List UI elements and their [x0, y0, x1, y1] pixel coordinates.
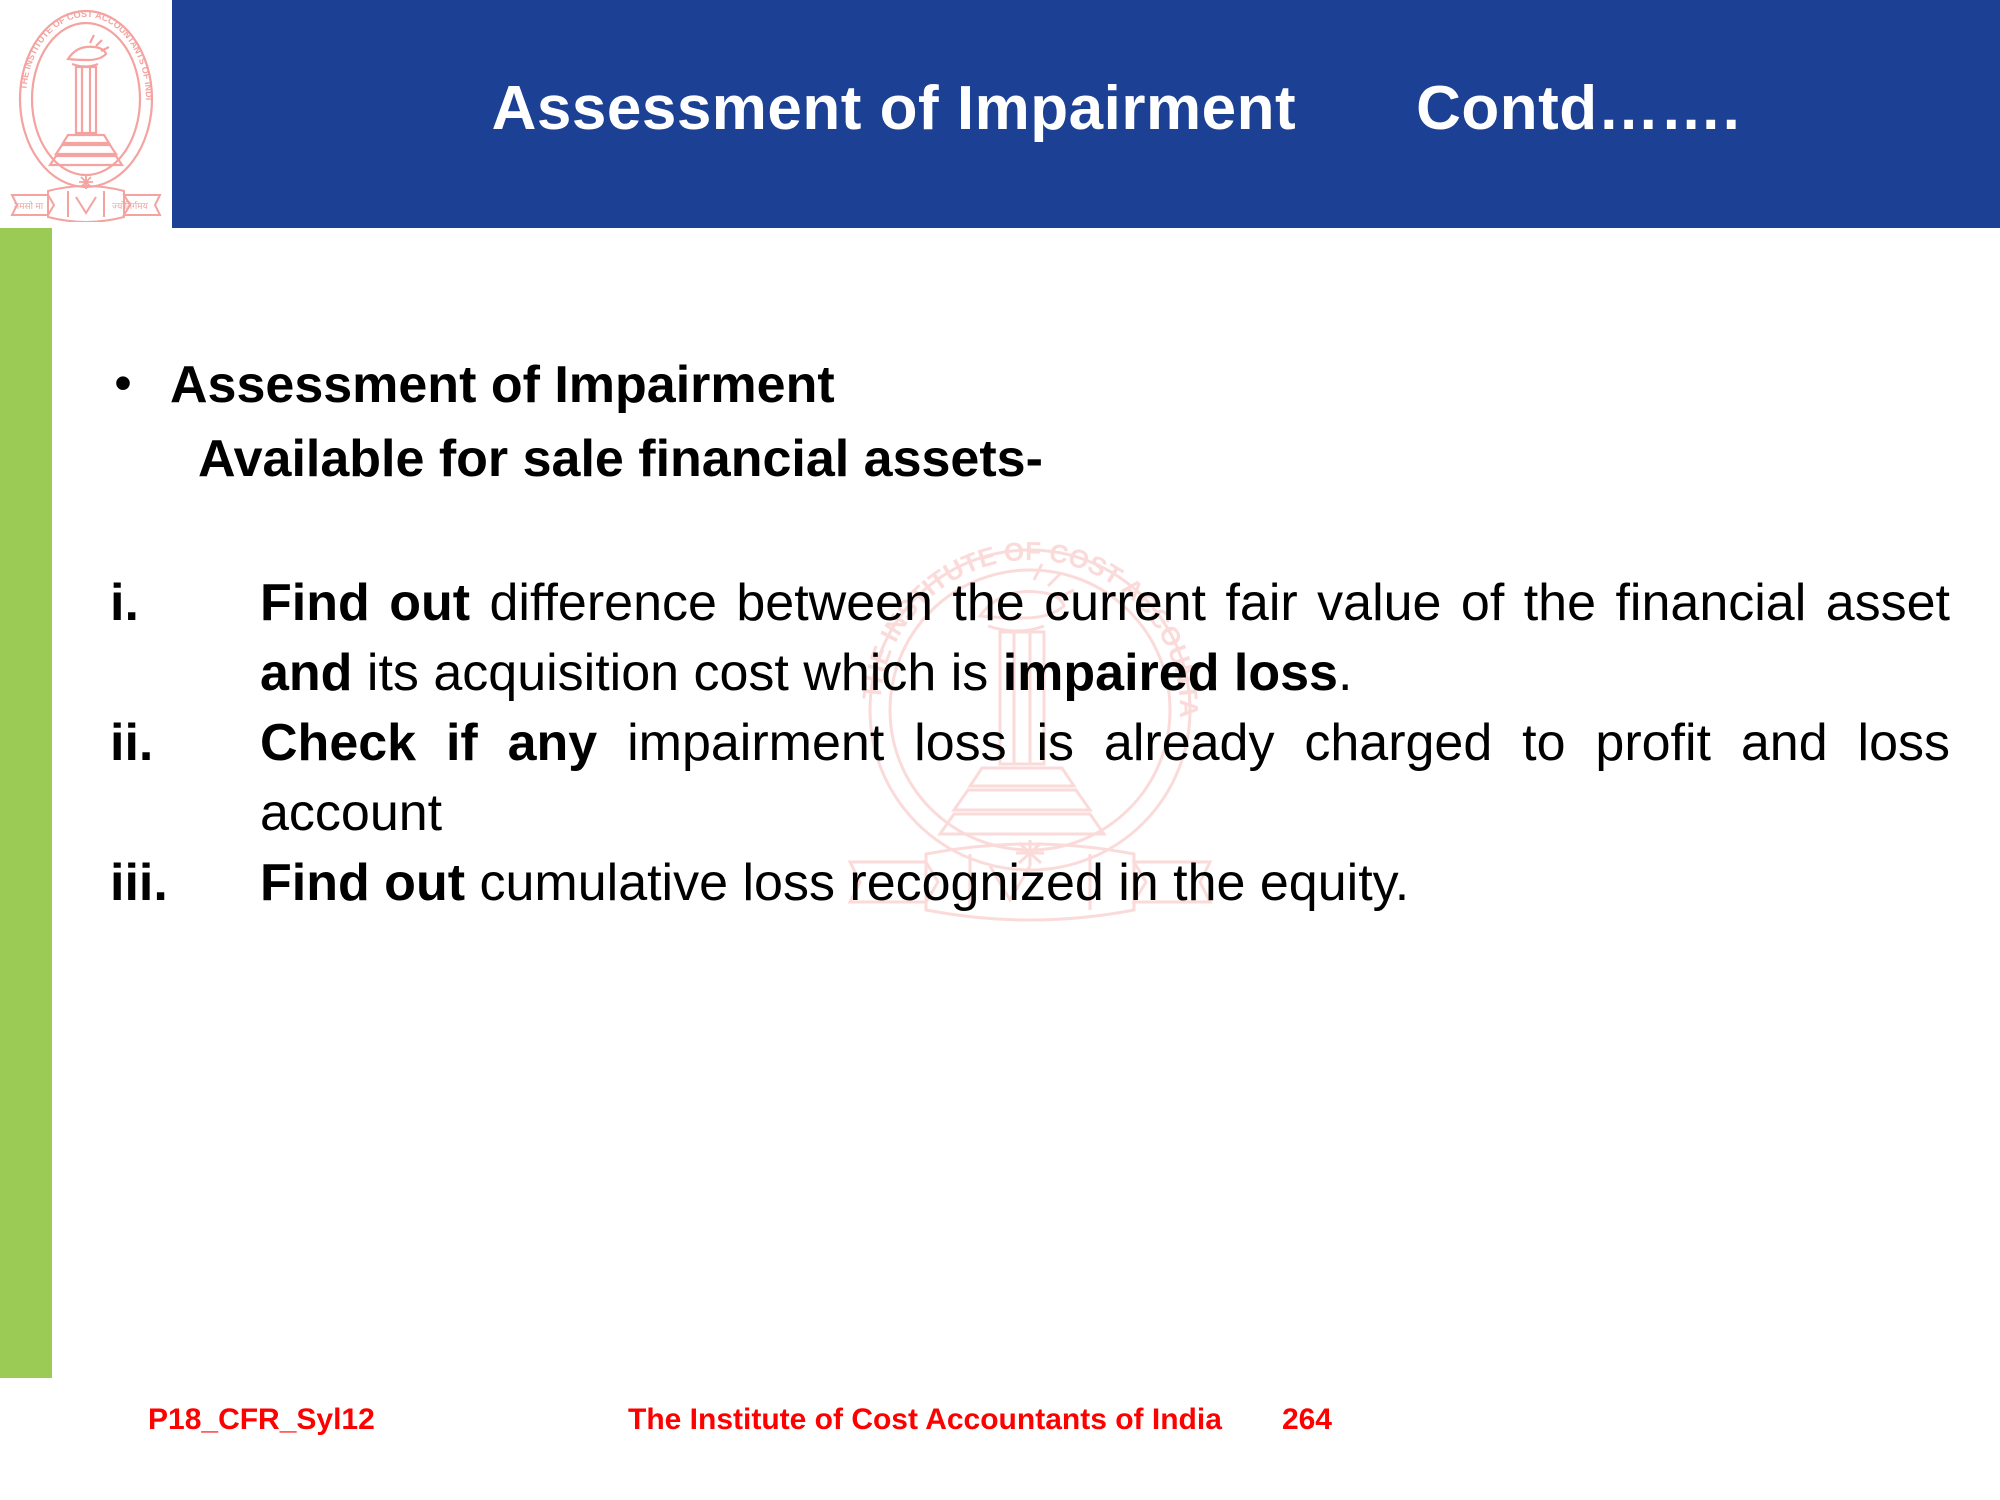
list-item: iii. Find out cumulative loss recognized…	[110, 848, 1950, 918]
header-bar: Assessment of Impairment Contd…….	[172, 0, 2000, 228]
bullet-heading-block: • Assessment of Impairment Available for…	[110, 348, 1910, 496]
list-text-iii: Find out cumulative loss recognized in t…	[260, 848, 1950, 918]
footer-page-number: 264	[1282, 1400, 1332, 1440]
slide-title: Assessment of Impairment	[492, 78, 1296, 140]
icai-logo-graphic: THE INSTITUTE OF COST ACCOUNTANTS OF IND…	[6, 7, 166, 222]
slide-content: • Assessment of Impairment Available for…	[0, 228, 2000, 1398]
footer-institute-name: The Institute of Cost Accountants of Ind…	[628, 1400, 1222, 1440]
heading-line-1: Assessment of Impairment	[170, 348, 835, 422]
bullet-point-icon: •	[110, 348, 136, 418]
list-marker-iii: iii.	[110, 848, 260, 918]
list-item: i. Find out difference between the curre…	[110, 568, 1950, 708]
heading-line-2: Available for sale financial assets-	[198, 422, 1910, 496]
roman-numeral-list: i. Find out difference between the curre…	[110, 568, 1950, 918]
bullet-heading-row: • Assessment of Impairment	[110, 348, 1910, 422]
list-marker-i: i.	[110, 568, 260, 638]
list-marker-ii: ii.	[110, 708, 260, 778]
footer-course-code: P18_CFR_Syl12	[148, 1400, 375, 1440]
slide-title-continuation: Contd…….	[1416, 78, 1740, 140]
list-item: ii. Check if any impairment loss is alre…	[110, 708, 1950, 848]
list-text-i: Find out difference between the current …	[260, 568, 1950, 708]
header-title-group: Assessment of Impairment Contd…….	[172, 0, 2000, 228]
icai-logo: THE INSTITUTE OF COST ACCOUNTANTS OF IND…	[0, 0, 172, 228]
logo-motto-left: तमसो मा	[14, 200, 44, 211]
list-text-ii: Check if any impairment loss is already …	[260, 708, 1950, 848]
svg-text:THE INSTITUTE OF COST ACCOUNTA: THE INSTITUTE OF COST ACCOUNTANTS OF IND…	[6, 7, 154, 100]
slide-footer: P18_CFR_Syl12 The Institute of Cost Acco…	[0, 1400, 2000, 1460]
logo-motto-right: ज्योतिर्गमय	[112, 200, 149, 211]
slide-canvas: Assessment of Impairment Contd……. THE IN…	[0, 0, 2000, 1500]
